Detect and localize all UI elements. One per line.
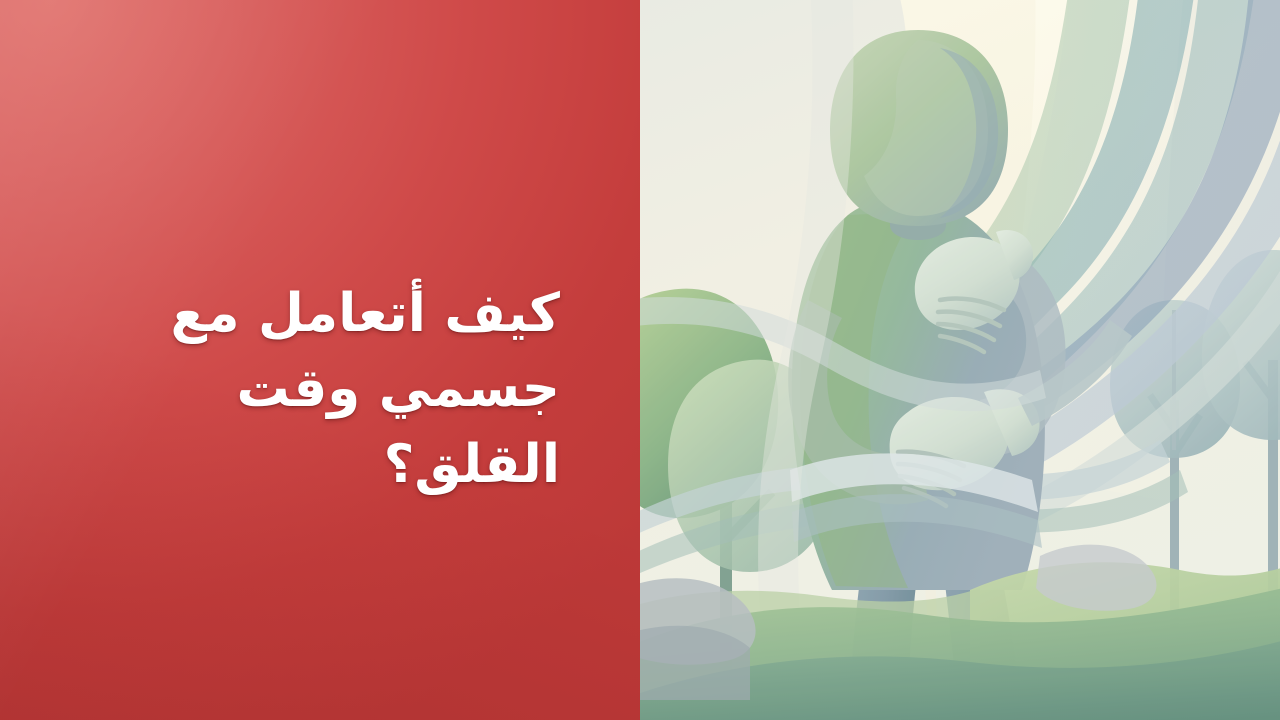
illustration-panel [640,0,1280,720]
slide-root: كيف أتعامل مع جسمي وقت القلق؟ [0,0,1280,720]
page-title: كيف أتعامل مع جسمي وقت القلق؟ [60,276,560,502]
abstract-illustration [640,0,1280,720]
red-title-panel: كيف أتعامل مع جسمي وقت القلق؟ [0,0,640,720]
headline-block: كيف أتعامل مع جسمي وقت القلق؟ [60,276,560,502]
